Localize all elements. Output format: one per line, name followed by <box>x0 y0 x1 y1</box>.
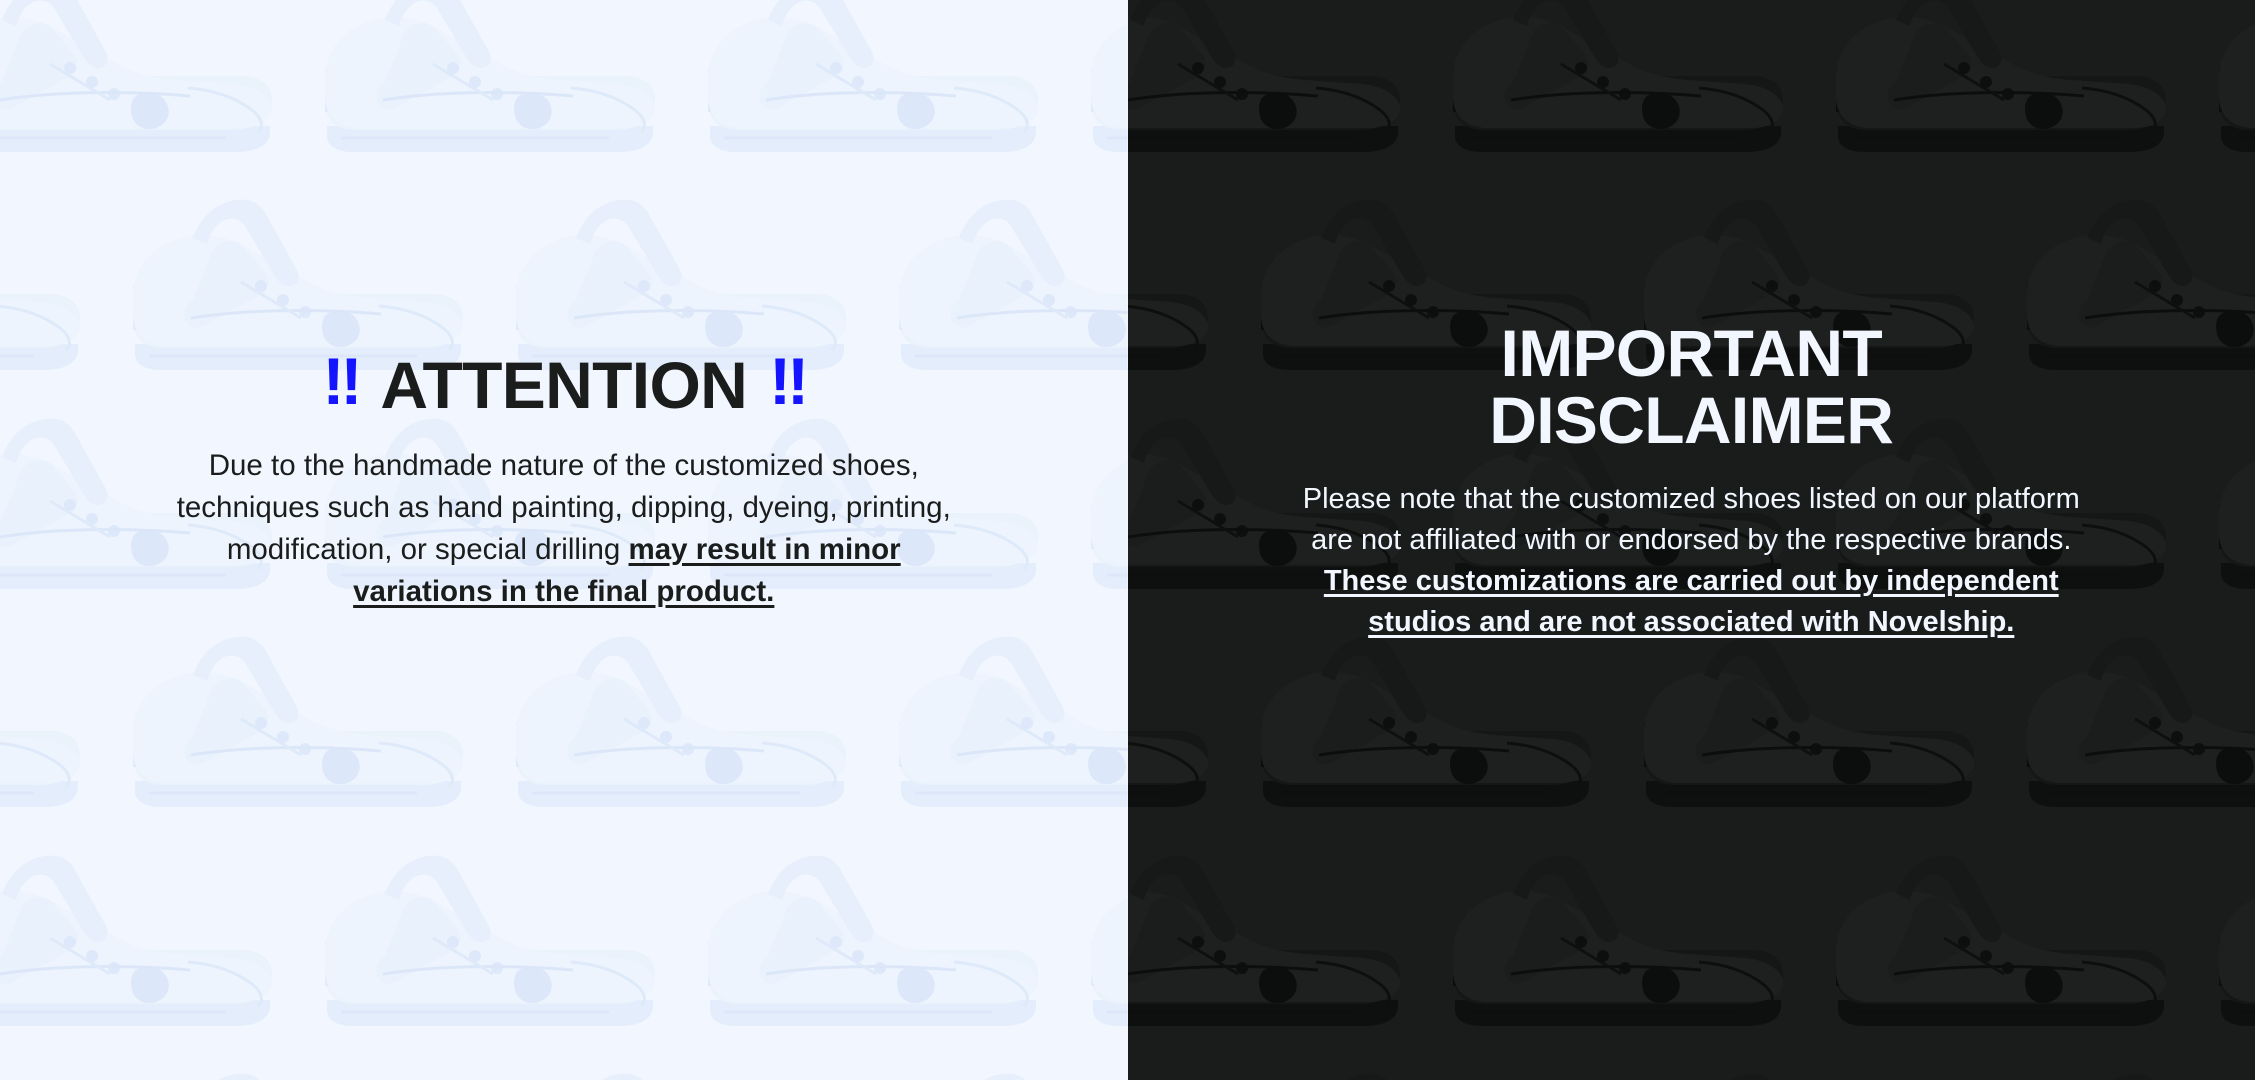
attention-body: Due to the handmade nature of the custom… <box>169 445 959 613</box>
double-exclamation-icon-left: ‼ <box>322 348 358 415</box>
attention-panel: ‼ATTENTION‼ Due to the handmade nature o… <box>0 0 1128 1080</box>
attention-content: ‼ATTENTION‼ Due to the handmade nature o… <box>0 0 1128 613</box>
attention-headline: ‼ATTENTION‼ <box>322 352 805 419</box>
disclaimer-content: IMPORTANT DISCLAIMER Please note that th… <box>1128 0 2255 643</box>
disclaimer-banner: ‼ATTENTION‼ Due to the handmade nature o… <box>0 0 2255 1080</box>
disclaimer-headline: IMPORTANT DISCLAIMER <box>1371 320 2011 455</box>
attention-title: ATTENTION <box>380 348 747 422</box>
disclaimer-body-emphasis: These customizations are carried out by … <box>1324 565 2059 638</box>
disclaimer-body-normal: Please note that the customized shoes li… <box>1303 483 2080 556</box>
disclaimer-panel: IMPORTANT DISCLAIMER Please note that th… <box>1128 0 2255 1080</box>
double-exclamation-icon-right: ‼ <box>769 348 805 415</box>
disclaimer-body: Please note that the customized shoes li… <box>1291 479 2091 644</box>
